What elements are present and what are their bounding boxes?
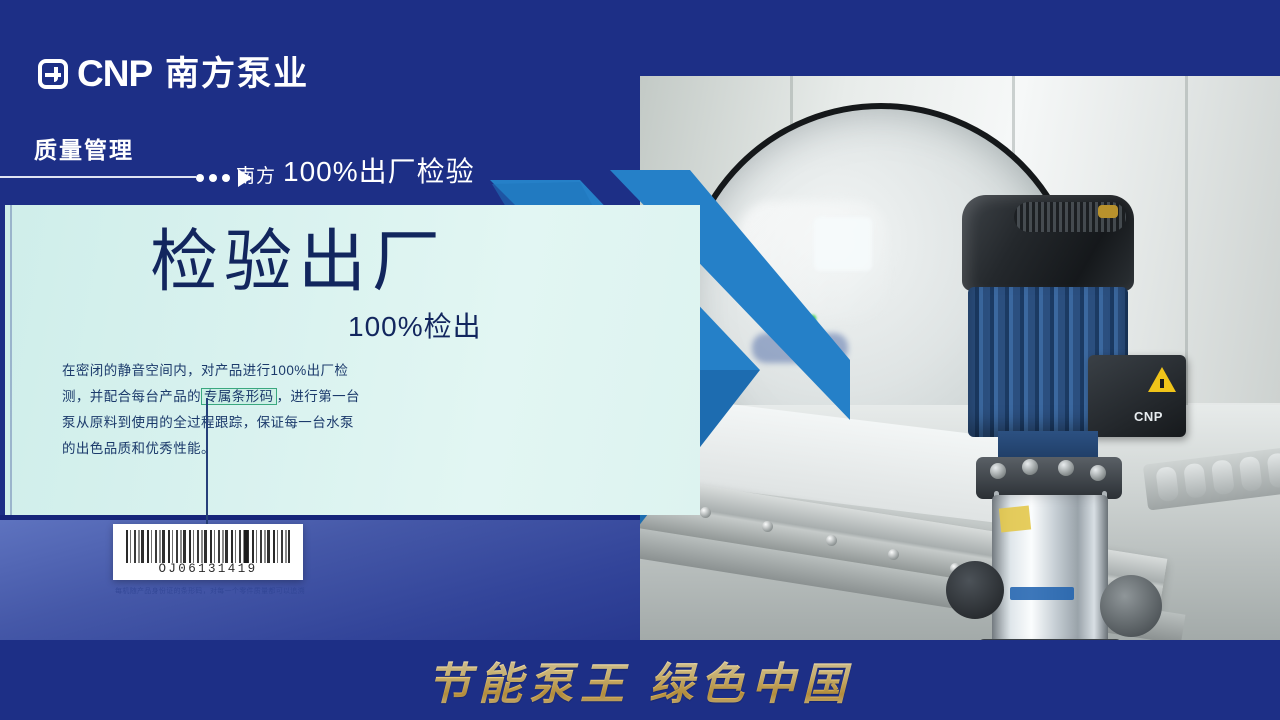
chamber-brand-text — [1010, 587, 1074, 600]
junction-box: CNP — [1088, 355, 1186, 437]
discharge-flange — [1100, 575, 1162, 637]
cap-screw — [1098, 205, 1118, 218]
rail-bolt — [888, 549, 899, 560]
header-title: 100%出厂检验 — [283, 150, 475, 190]
page-title: 检验出厂 — [150, 228, 446, 296]
page-subtitle: 100%检出 — [348, 305, 482, 345]
leader-line — [206, 398, 208, 530]
pump-cnp-logo: CNP — [1134, 409, 1163, 424]
section-label: 质量管理 — [34, 131, 134, 165]
cnp-pump-logo-icon — [38, 59, 68, 89]
suction-flange — [946, 561, 1004, 619]
header-prefix: 南方 — [236, 161, 276, 188]
barcode-caption: 每机随产品身份证的条形码，对每一个零件质量都可以追溯 — [100, 586, 320, 596]
barcode-highlight-term: 专属条形码 — [201, 388, 277, 405]
barcode-bars — [126, 530, 290, 563]
cnp-chinese-name: 南方泵业 — [165, 57, 309, 91]
barcode-card: OJ06131419 — [113, 524, 303, 580]
panel-left-inner-line — [10, 205, 12, 515]
chamber-label — [999, 505, 1031, 532]
motor-cap — [962, 195, 1134, 291]
cnp-wordmark: CNP — [77, 55, 152, 92]
header-rule — [0, 176, 196, 178]
lower-zone-divider — [0, 515, 640, 520]
slide: CNP — [0, 0, 1280, 720]
footer-slogan: 节能泵王 绿色中国 — [0, 648, 1280, 712]
electrical-warning-icon — [1148, 367, 1176, 392]
vertical-multistage-pump: CNP — [938, 195, 1168, 625]
barcode-number: OJ06131419 — [113, 562, 303, 576]
lower-gradient-zone — [0, 515, 640, 640]
panel-left-edge — [0, 205, 5, 515]
top-navy-band — [640, 0, 1280, 76]
cnp-logo[interactable]: CNP 南方泵业 — [38, 55, 309, 92]
body-paragraph: 在密闭的静音空间内，对产品进行100%出厂检测，并配合每台产品的专属条形码，进行… — [62, 358, 364, 462]
